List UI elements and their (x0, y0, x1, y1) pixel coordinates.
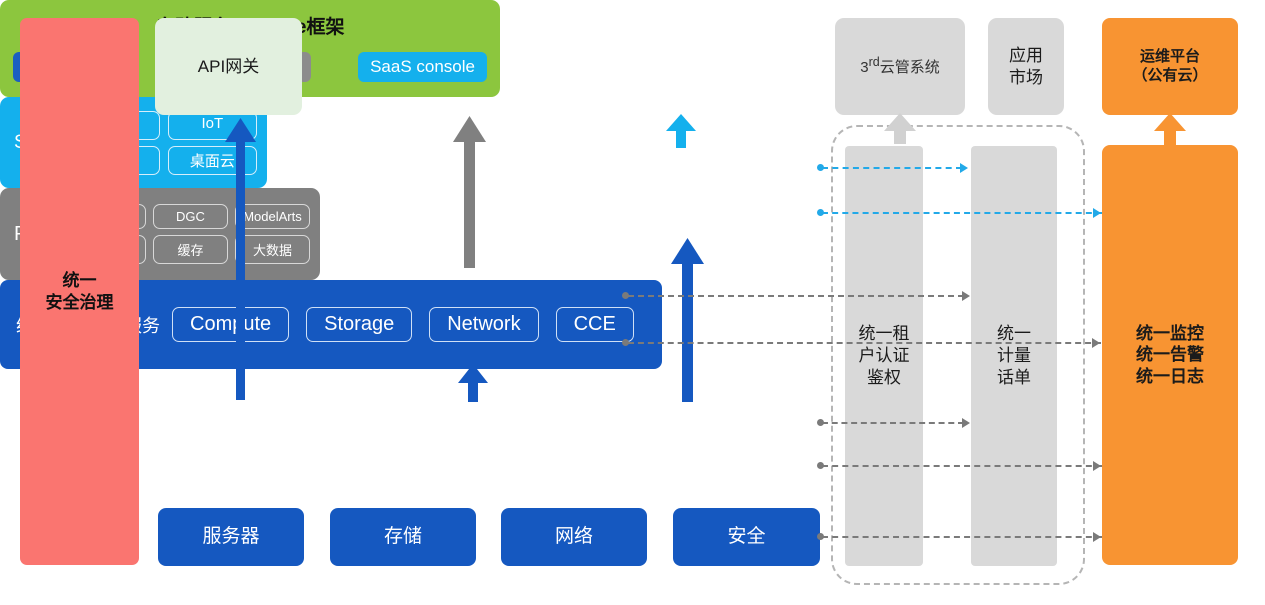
panel-api-gateway: API网关 (155, 18, 302, 115)
app-market-line-2: 市场 (1009, 67, 1043, 88)
infra-cell-compute[interactable]: Compute (172, 307, 289, 342)
third-party-sup: rd (869, 55, 880, 69)
security-line-2: 安全治理 (46, 292, 114, 313)
chip-saas-console[interactable]: SaaS console (358, 52, 487, 82)
arrow-infra-to-paas (458, 364, 488, 402)
panel-unified-monitoring: 统一监控 统一告警 统一日志 (1102, 145, 1238, 565)
ops-top-line-1: 运维平台 (1132, 48, 1207, 67)
panel-third-party-cloud-mgmt: 3rd云管系统 (835, 18, 965, 115)
resource-box-server[interactable]: 服务器 (158, 508, 304, 566)
infrastructure-cell-row: Compute Storage Network CCE (166, 307, 634, 342)
infra-cell-cce[interactable]: CCE (556, 307, 634, 342)
ops-top-line-2: （公有云） (1132, 67, 1207, 86)
architecture-diagram: 统一 安全治理 API网关 自助服务Console框架 IaaS console… (0, 0, 1265, 605)
connector-arrowhead-infra-ops (1093, 461, 1101, 471)
infra-cell-storage[interactable]: Storage (306, 307, 412, 342)
paas-cell-dgc[interactable]: DGC (153, 204, 228, 229)
saas-cell-desktop-cloud[interactable]: 桌面云 (168, 146, 257, 175)
connector-arrowhead-saas-ops (1093, 208, 1101, 218)
security-line-1: 统一 (46, 270, 114, 291)
connector-paas-to-auth (628, 295, 964, 297)
third-party-prefix: 3 (860, 59, 868, 76)
column-unified-metering-billing: 统一 计量 话单 (971, 146, 1057, 566)
connector-infra-to-ops (822, 465, 1102, 467)
paas-cell-modelarts[interactable]: ModelArts (235, 204, 310, 229)
paas-cell-bigdata[interactable]: 大数据 (235, 235, 310, 264)
connector-saas-to-auth (822, 167, 962, 169)
ops-main-line-3: 统一日志 (1136, 366, 1204, 387)
connector-arrowhead-saas-auth (960, 163, 968, 173)
infra-cell-network[interactable]: Network (429, 307, 538, 342)
column-unified-tenant-auth: 统一租 户认证 鉴权 (845, 146, 923, 566)
panel-ops-platform-public-cloud: 运维平台 （公有云） (1102, 18, 1238, 115)
connector-arrowhead-paas-auth (962, 291, 970, 301)
resource-box-security[interactable]: 安全 (673, 508, 820, 566)
panel-unified-security-governance: 统一 安全治理 (20, 18, 139, 565)
arrow-paas-to-console (453, 116, 486, 268)
arrow-ops-main-to-ops-top (1154, 113, 1186, 146)
paas-cell-cache[interactable]: 缓存 (153, 235, 228, 264)
resource-box-network[interactable]: 网络 (501, 508, 647, 566)
connector-arrowhead-paas-ops (1092, 338, 1100, 348)
arrow-infra-to-saas (671, 238, 704, 402)
connector-arrowhead-infra-auth (962, 418, 970, 428)
third-party-rest: 云管系统 (880, 59, 940, 76)
auth-line-3: 鉴权 (859, 367, 910, 389)
connector-arrowhead-resources-ops (1093, 532, 1101, 542)
connector-saas-to-ops (822, 212, 1102, 214)
app-market-line-1: 应用 (1009, 45, 1043, 66)
ops-main-line-2: 统一告警 (1136, 344, 1204, 365)
resource-box-storage[interactable]: 存储 (330, 508, 476, 566)
metering-line-3: 话单 (997, 367, 1031, 389)
connector-resources-to-ops (822, 536, 1102, 538)
auth-line-2: 户认证 (859, 345, 910, 367)
metering-line-2: 计量 (997, 345, 1031, 367)
arrow-saas-to-console (666, 114, 696, 148)
api-gateway-label: API网关 (198, 56, 259, 77)
connector-infra-to-auth (822, 422, 964, 424)
panel-app-market: 应用 市场 (988, 18, 1064, 115)
ops-main-line-1: 统一监控 (1136, 323, 1204, 344)
connector-paas-to-ops (628, 342, 1101, 344)
third-party-label: 3rd云管系统 (860, 55, 939, 78)
